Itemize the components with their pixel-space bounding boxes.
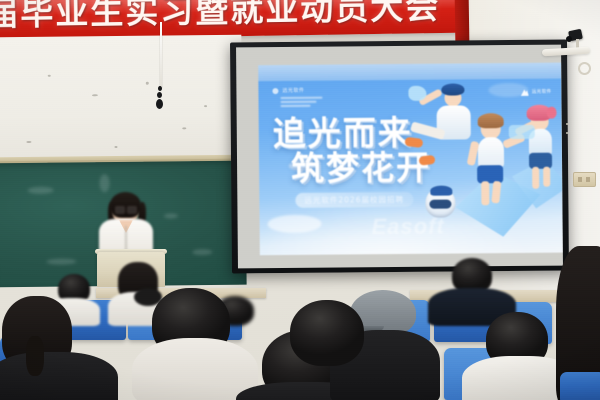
auditorium-chair[interactable] (560, 372, 600, 400)
slide-logo-text: 远光软件 (532, 89, 552, 95)
speech-bubble (509, 125, 535, 139)
camera-lens-icon (566, 36, 572, 42)
white-wall-panel (0, 35, 243, 170)
pull-cord-bead (158, 86, 162, 91)
slide-title-line2: 筑梦花开 (291, 151, 431, 185)
slide-top-band (258, 63, 561, 82)
robot-visor (429, 200, 451, 209)
wall-hook-icon (578, 62, 591, 75)
banner-edge (455, 0, 470, 42)
slide-graphic: 远光软件 远光软件 (258, 63, 563, 256)
lecture-room-photo: 6届毕业生实习暨就业动员大会 (0, 0, 600, 400)
attendee-body (0, 352, 118, 400)
wall-outlet[interactable] (573, 172, 596, 187)
pull-cord-bead (157, 92, 162, 98)
attendee-head (290, 300, 364, 366)
glasses-icon (115, 206, 136, 212)
slide-watermark: Easoft (372, 214, 445, 241)
screen-surface: 远光软件 远光软件 (236, 45, 563, 269)
attendee-body (132, 338, 258, 400)
projector-screen: 远光软件 远光软件 (230, 40, 569, 274)
slide-title: 追光而来 筑梦花开 (273, 116, 432, 185)
banner-text: 6届毕业生实习暨就业动员大会 (0, 0, 467, 37)
slide-corp-mark: 远光软件 (272, 87, 304, 94)
presenter-hair (110, 192, 141, 218)
slide-smalltext-lines (280, 97, 322, 109)
corp-dot-icon (272, 88, 278, 94)
pull-cord[interactable] (160, 22, 162, 88)
slide-corp-name: 远光软件 (282, 87, 304, 94)
pull-cord-weight (156, 99, 163, 109)
slide-subtitle: 远光软件2026届校园招聘 (295, 192, 413, 208)
